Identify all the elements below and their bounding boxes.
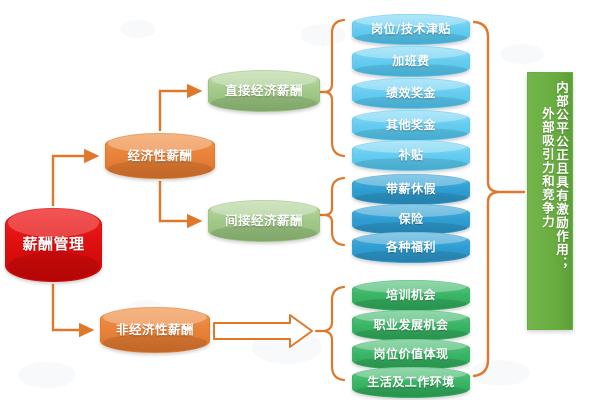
leaf-label: 生活及工作环境 <box>367 376 455 389</box>
leaf-label: 加班费 <box>392 55 430 68</box>
brace-direct-group <box>324 20 344 156</box>
leaf-label: 带薪休假 <box>386 183 436 196</box>
leaf-label: 岗位/技术津贴 <box>371 23 451 36</box>
diagram-canvas: 薪酬管理 经济性薪酬 非经济性薪酬 直接经济薪酬 间接经济薪酬 岗位/技术津贴 … <box>0 0 600 400</box>
leaf-label: 各种福利 <box>386 241 436 254</box>
leaf-living-working-environment[interactable]: 生活及工作环境 <box>352 367 470 398</box>
goal-line-external: 外部吸引力和竞争力 <box>541 107 554 229</box>
leaf-career-development-opportunity[interactable]: 职业发展机会 <box>352 310 470 341</box>
leaf-job-value-realization[interactable]: 岗位价值体现 <box>352 339 470 370</box>
node-label: 非经济性薪酬 <box>116 323 194 336</box>
node-label: 直接经济薪酬 <box>225 84 303 97</box>
wire-economic-to-direct <box>160 91 200 131</box>
node-economic-compensation[interactable]: 经济性薪酬 <box>105 133 215 179</box>
leaf-label: 保险 <box>398 213 423 226</box>
node-label: 薪酬管理 <box>22 237 84 253</box>
leaf-performance-bonus[interactable]: 绩效奖金 <box>352 78 470 109</box>
node-label: 经济性薪酬 <box>127 149 192 162</box>
wire-economic-to-indirect <box>160 181 200 221</box>
node-direct-economic-compensation[interactable]: 直接经济薪酬 <box>208 70 320 112</box>
leaf-label: 岗位价值体现 <box>373 348 448 361</box>
connector-layer <box>0 0 600 400</box>
leaf-paid-leave[interactable]: 带薪休假 <box>352 174 470 205</box>
leaf-overtime-pay[interactable]: 加班费 <box>352 46 470 77</box>
leaf-training-opportunity[interactable]: 培训机会 <box>352 280 470 311</box>
leaf-label: 补贴 <box>398 149 423 162</box>
leaf-post-technical-allowance[interactable]: 岗位/技术津贴 <box>352 14 470 45</box>
leaf-label: 培训机会 <box>386 289 436 302</box>
brace-noneconomic-group <box>324 287 344 380</box>
node-root-compensation-management[interactable]: 薪酬管理 <box>5 208 102 282</box>
leaf-insurance[interactable]: 保险 <box>352 204 470 235</box>
leaf-label: 绩效奖金 <box>386 87 436 100</box>
wire-root-to-noneconomic <box>53 284 92 330</box>
brace-all-to-goal <box>474 22 498 376</box>
leaf-label: 职业发展机会 <box>373 319 448 332</box>
leaf-subsidy[interactable]: 补贴 <box>352 140 470 171</box>
node-indirect-economic-compensation[interactable]: 间接经济薪酬 <box>208 200 320 242</box>
brace-indirect-group <box>324 178 344 245</box>
leaf-various-benefits[interactable]: 各种福利 <box>352 232 470 263</box>
goal-panel: 内部公平公正且具有激励作用； 外部吸引力和竞争力 <box>527 72 573 330</box>
wire-root-to-economic <box>53 156 97 206</box>
goal-line-internal: 内部公平公正且具有激励作用； <box>555 81 568 270</box>
leaf-label: 其他奖金 <box>386 119 436 132</box>
block-arrow-noneconomic <box>214 315 312 347</box>
node-non-economic-compensation[interactable]: 非经济性薪酬 <box>100 307 210 353</box>
node-label: 间接经济薪酬 <box>225 214 303 227</box>
leaf-other-bonus[interactable]: 其他奖金 <box>352 110 470 141</box>
